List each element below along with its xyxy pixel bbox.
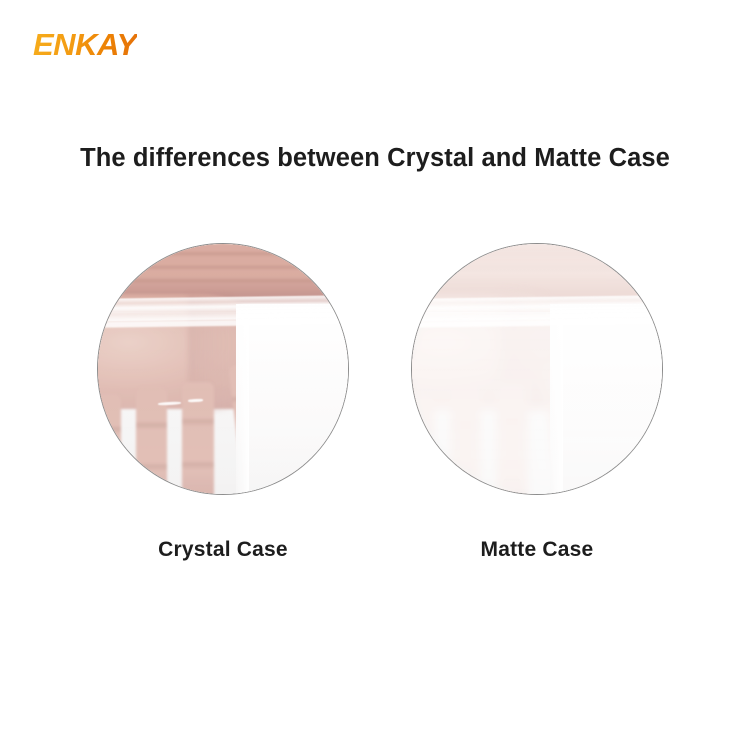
comparison-item-crystal: Crystal Case (97, 243, 349, 562)
comparison-item-matte: Matte Case (411, 243, 663, 562)
comparison-section: Crystal Case Matte Case (0, 243, 750, 583)
case-edge-highlight (97, 294, 349, 321)
case-empty-area (236, 304, 350, 495)
hand-behind-matte-case-photo (411, 243, 663, 495)
hand-behind-crystal-case-photo (97, 243, 349, 495)
matte-scene (412, 244, 662, 494)
page-title: The differences between Crystal and Matt… (0, 144, 750, 173)
caption-crystal-case: Crystal Case (97, 538, 349, 562)
case-edge-highlight (411, 294, 663, 321)
enkay-wordmark-icon: ENKAY (33, 28, 137, 62)
case-empty-area (550, 304, 664, 495)
crystal-scene (98, 244, 348, 494)
caption-matte-case: Matte Case (411, 538, 663, 562)
brand-logo: ENKAY (33, 28, 137, 62)
